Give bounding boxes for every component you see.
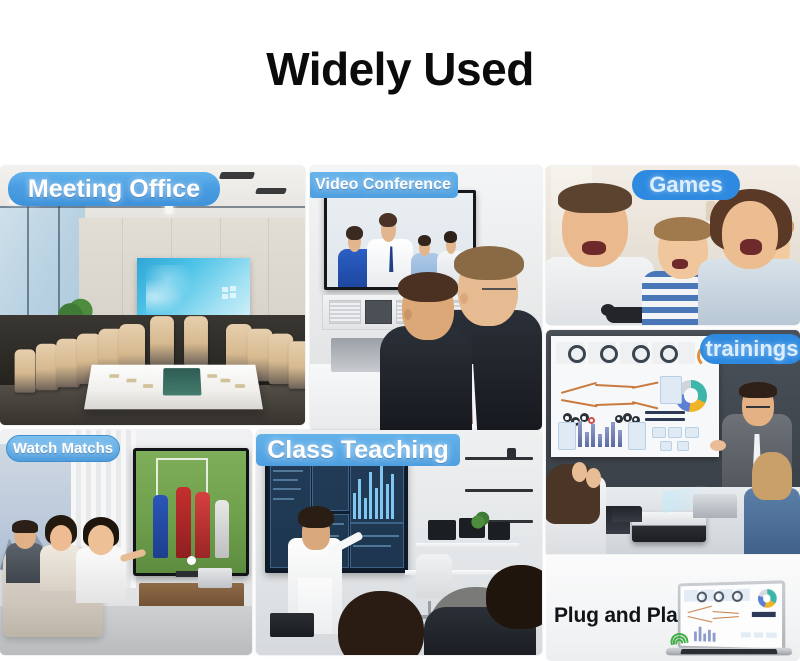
player-mom: [698, 183, 800, 325]
plug-and-play-banner: Plug and Play: [546, 556, 800, 661]
video-conference-scene: [310, 166, 542, 430]
attendee-back: [380, 268, 476, 430]
panel-trainings[interactable]: trainings: [546, 330, 800, 554]
panel-video-conference[interactable]: Video Conference: [310, 166, 542, 430]
watch-matchs-scene: [0, 430, 252, 655]
panel-meeting-office[interactable]: Meeting Office: [0, 166, 305, 425]
badge-trainings: trainings: [700, 334, 800, 364]
badge-games: Games: [632, 170, 740, 200]
student-3: [486, 565, 542, 629]
badge-class-teaching: Class Teaching: [256, 434, 460, 466]
panel-class-teaching[interactable]: Class Teaching: [256, 430, 542, 655]
student-1: [338, 591, 424, 655]
badge-watch-matchs: Watch Matchs: [6, 435, 120, 462]
attendee-right: [744, 448, 800, 554]
teacher: [288, 486, 344, 634]
panel-watch-matchs[interactable]: Watch Matchs: [0, 430, 252, 655]
wifi-icon: [672, 632, 686, 644]
attendee-left: [546, 426, 608, 554]
television: [133, 448, 250, 576]
collage-grid: Meeting Office: [0, 0, 800, 661]
laptop-device: [666, 582, 792, 660]
badge-video-conference: Video Conference: [310, 172, 458, 198]
badge-meeting-office: Meeting Office: [8, 172, 220, 206]
viewer-3: [76, 519, 128, 603]
panel-games[interactable]: Games: [546, 166, 800, 325]
